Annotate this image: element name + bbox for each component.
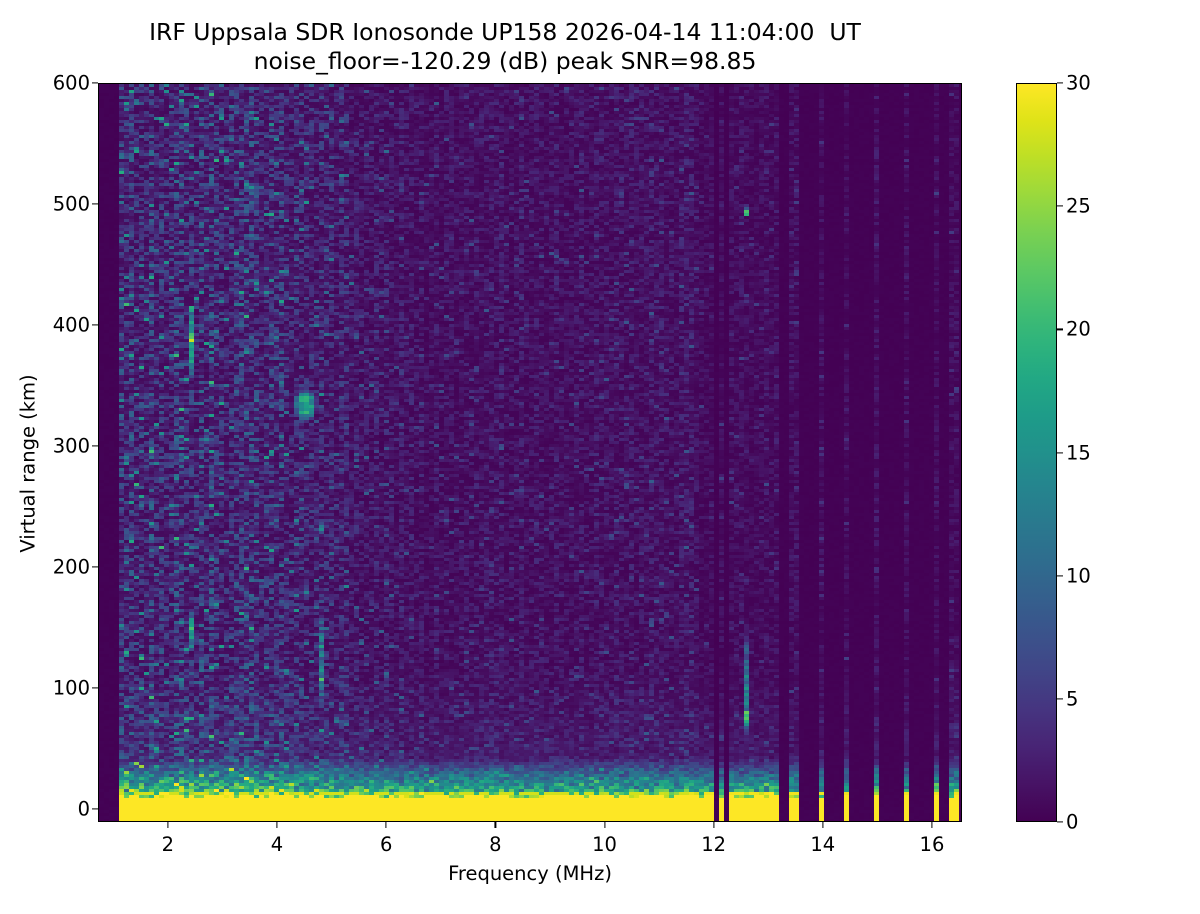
y-tick-label: 200 <box>53 555 90 578</box>
page-title: IRF Uppsala SDR Ionosonde UP158 2026-04-… <box>0 18 1010 75</box>
colorbar <box>1016 83 1057 822</box>
ionogram-plot-area <box>98 83 962 822</box>
x-tick-mark <box>713 822 714 828</box>
colorbar-tick-label: 20 <box>1066 318 1091 341</box>
colorbar-label-wrap: SNR (dB) <box>1105 300 1200 600</box>
ionogram-heatmap <box>99 84 962 822</box>
colorbar-tick-mark <box>1057 452 1063 453</box>
title-line-2: noise_floor=-120.29 (dB) peak SNR=98.85 <box>0 47 1010 76</box>
colorbar-tick-label: 25 <box>1066 195 1091 218</box>
x-tick-label: 14 <box>810 833 835 856</box>
y-axis-label: Virtual range (km) <box>17 254 40 674</box>
title-line-1: IRF Uppsala SDR Ionosonde UP158 2026-04-… <box>0 18 1010 47</box>
x-axis-label: Frequency (MHz) <box>98 862 962 885</box>
x-tick-label: 10 <box>592 833 617 856</box>
x-tick-mark <box>167 822 168 828</box>
colorbar-tick-label: 5 <box>1066 687 1078 710</box>
ionogram-figure: IRF Uppsala SDR Ionosonde UP158 2026-04-… <box>0 0 1200 900</box>
x-tick-label: 4 <box>271 833 283 856</box>
colorbar-tick-label: 15 <box>1066 441 1091 464</box>
colorbar-tick-mark <box>1057 698 1063 699</box>
x-tick-mark <box>276 822 277 828</box>
x-tick-label: 16 <box>920 833 945 856</box>
y-tick-label: 400 <box>53 313 90 336</box>
colorbar-tick-mark <box>1057 82 1063 83</box>
colorbar-tick-mark <box>1057 821 1063 822</box>
x-tick-label: 6 <box>380 833 392 856</box>
colorbar-tick-mark <box>1057 206 1063 207</box>
y-tick-label: 0 <box>78 797 90 820</box>
x-tick-label: 12 <box>701 833 726 856</box>
x-tick-label: 2 <box>162 833 174 856</box>
x-tick-label: 8 <box>489 833 501 856</box>
colorbar-tick-label: 30 <box>1066 72 1091 95</box>
colorbar-tick-mark <box>1057 329 1063 330</box>
x-tick-mark <box>931 822 932 828</box>
colorbar-tick-label: 0 <box>1066 811 1078 834</box>
colorbar-tick-mark <box>1057 575 1063 576</box>
x-tick-mark <box>495 822 496 828</box>
x-tick-mark <box>822 822 823 828</box>
colorbar-tick-label: 10 <box>1066 564 1091 587</box>
x-tick-mark <box>386 822 387 828</box>
colorbar-gradient <box>1017 84 1056 821</box>
y-tick-label: 300 <box>53 434 90 457</box>
y-tick-label: 500 <box>53 192 90 215</box>
x-tick-mark <box>604 822 605 828</box>
y-tick-label: 100 <box>53 676 90 699</box>
